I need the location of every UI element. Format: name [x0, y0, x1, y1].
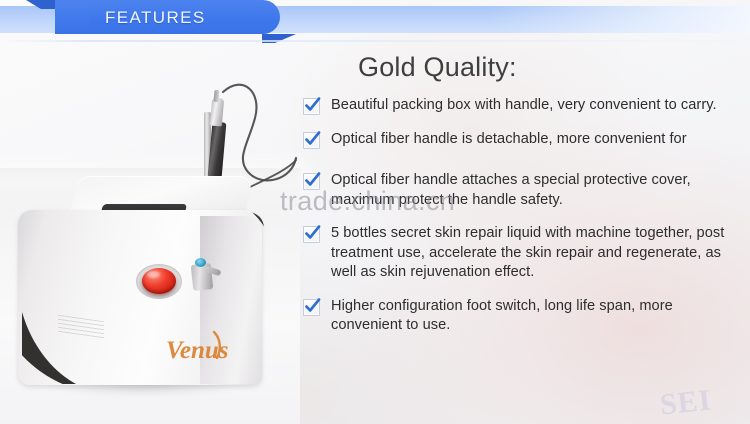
list-item-text: 5 bottles secret skin repair liquid with…	[331, 224, 737, 283]
list-item: Optical fiber handle attaches a special …	[296, 171, 750, 210]
features-list: Beautiful packing box with handle, very …	[296, 96, 750, 350]
list-item-text: Higher configuration foot switch, long l…	[331, 297, 737, 336]
list-item-text: Optical fiber handle is detachable, more…	[331, 130, 737, 150]
checkbox-checked-icon	[303, 132, 320, 149]
checkbox-checked-icon	[303, 98, 320, 115]
banner-strip-fade	[490, 6, 750, 33]
checkbox-checked-icon	[303, 173, 320, 190]
list-item-text: Beautiful packing box with handle, very …	[331, 96, 737, 116]
product-photo: Venus	[0, 40, 300, 424]
page-title: Gold Quality:	[358, 52, 517, 83]
list-item: Optical fiber handle is detachable, more…	[296, 130, 750, 150]
list-item-text: Optical fiber handle attaches a special …	[331, 171, 737, 210]
handpiece-tip	[213, 90, 219, 102]
brand-logo: Venus	[160, 328, 246, 370]
checkbox-checked-icon	[303, 226, 320, 243]
device-front-stripe	[22, 212, 147, 384]
list-item: Beautiful packing box with handle, very …	[296, 96, 750, 116]
fiber-port-tip	[195, 258, 206, 267]
slide-canvas: FEATURES Venus	[0, 0, 750, 424]
features-content: Gold Quality: Beautiful packing box with…	[296, 44, 750, 424]
features-banner: FEATURES	[0, 0, 750, 40]
emergency-stop-button	[142, 268, 176, 294]
banner-title: FEATURES	[105, 8, 206, 28]
list-item: Higher configuration foot switch, long l…	[296, 297, 750, 336]
list-item: 5 bottles secret skin repair liquid with…	[296, 224, 750, 283]
checkbox-checked-icon	[303, 299, 320, 316]
